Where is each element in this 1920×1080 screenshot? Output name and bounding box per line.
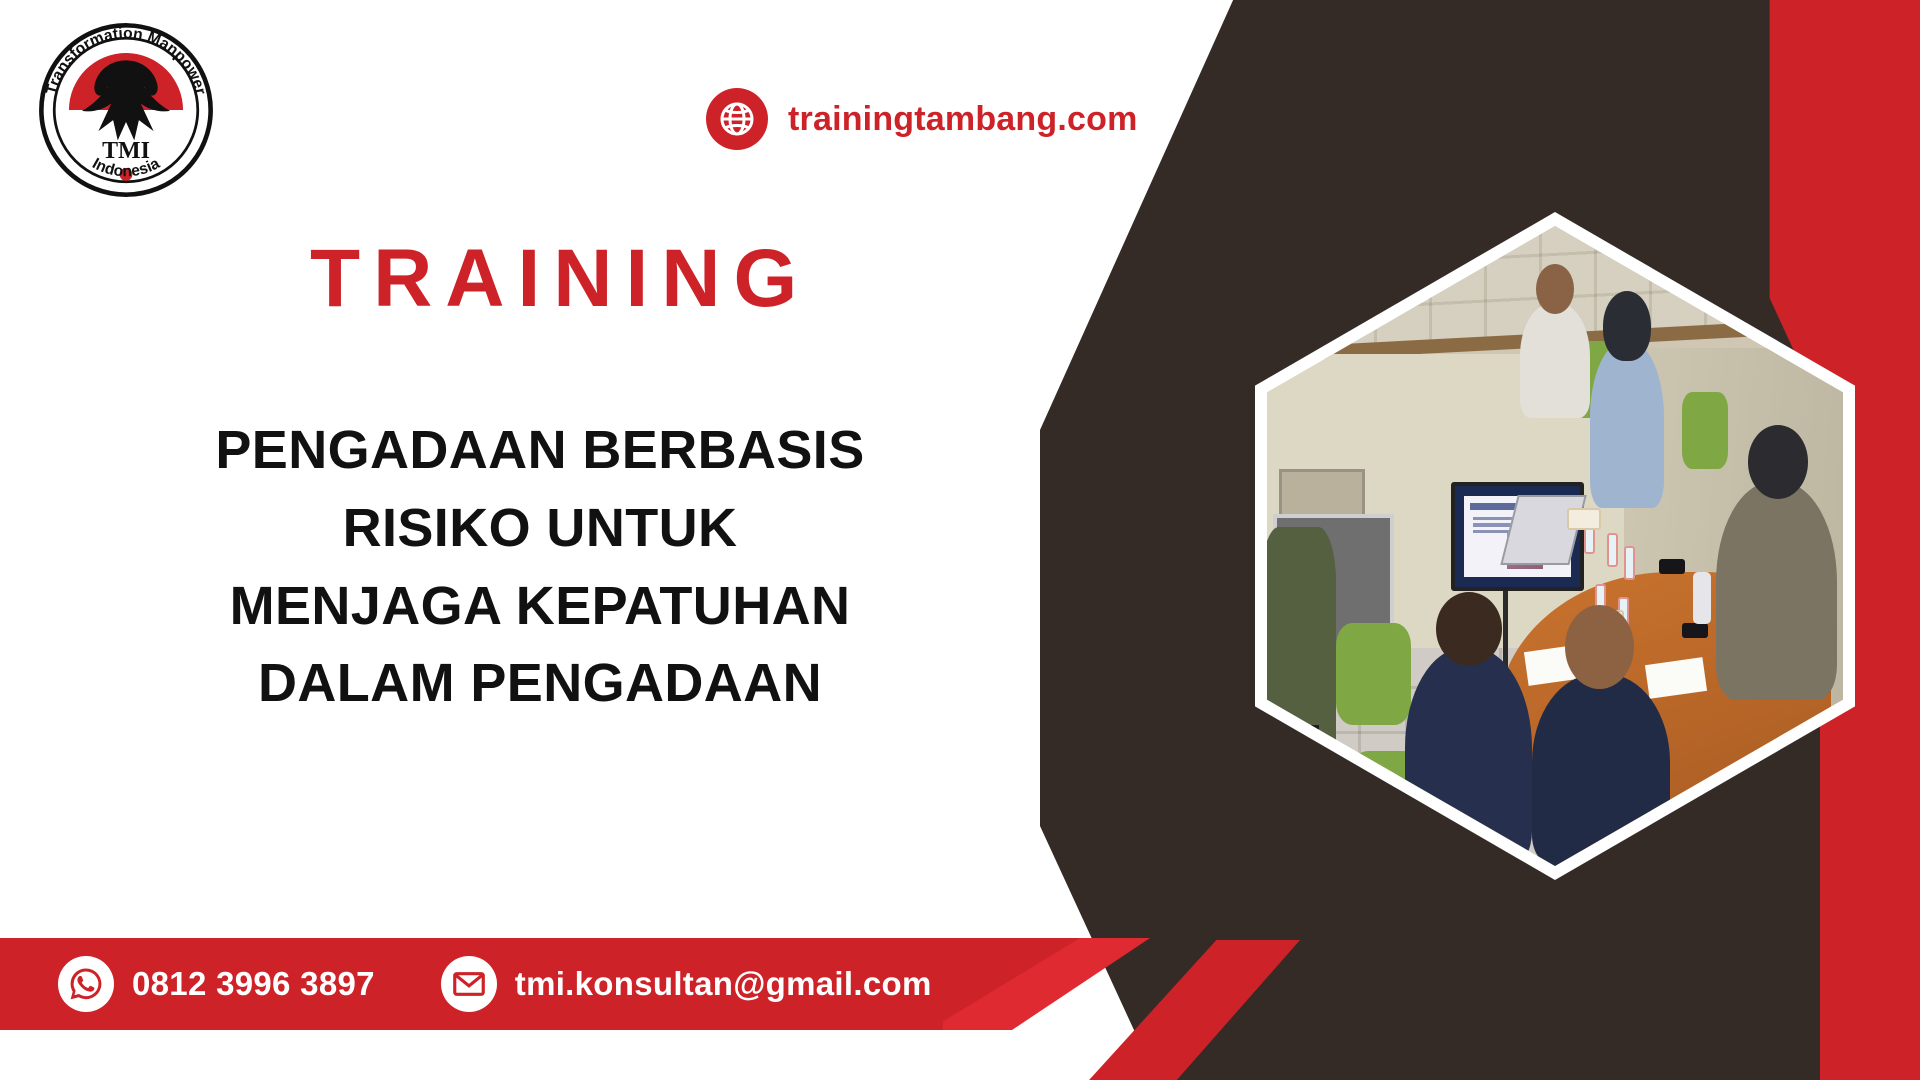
- participant-person: [1716, 482, 1837, 700]
- office-chair: [1336, 623, 1411, 725]
- phone: [1682, 623, 1708, 638]
- email-contact[interactable]: tmi.konsultan@gmail.com: [441, 956, 932, 1012]
- website-row[interactable]: trainingtambang.com: [706, 88, 1138, 150]
- poster-canvas: TMI Transformation Manpower Indonesia tr…: [0, 0, 1920, 1080]
- participant-person: [1520, 303, 1589, 418]
- title-line-1: PENGADAAN BERBASIS: [70, 412, 1010, 490]
- title-line-2: RISIKO UNTUK: [70, 490, 1010, 568]
- whatsapp-icon: [58, 956, 114, 1012]
- contact-bar: 0812 3996 3897 tmi.konsultan@gmail.com: [0, 938, 1080, 1030]
- snack-box: [1567, 508, 1601, 530]
- email-address[interactable]: tmi.konsultan@gmail.com: [515, 965, 932, 1003]
- water-bottle: [1624, 546, 1635, 580]
- office-chair: [1682, 392, 1728, 469]
- participant-person: [1590, 341, 1665, 507]
- title-line-4: DALAM PENGADAAN: [70, 645, 1010, 723]
- website-url[interactable]: trainingtambang.com: [788, 100, 1138, 139]
- thermos: [1693, 572, 1711, 624]
- water-bottle: [1607, 533, 1618, 567]
- envelope-icon: [441, 956, 497, 1012]
- page-title: PENGADAAN BERBASIS RISIKO UNTUK MENJAGA …: [70, 412, 1010, 723]
- phone-number[interactable]: 0812 3996 3897: [132, 965, 375, 1003]
- eyebrow-training: TRAINING: [310, 232, 810, 326]
- whatsapp-contact[interactable]: 0812 3996 3897: [58, 956, 375, 1012]
- title-line-3: MENJAGA KEPATUHAN: [70, 568, 1010, 646]
- tmi-logo: TMI Transformation Manpower Indonesia: [34, 18, 218, 202]
- globe-icon: [706, 88, 768, 150]
- svg-text:TMI: TMI: [102, 138, 150, 164]
- phone: [1659, 559, 1685, 574]
